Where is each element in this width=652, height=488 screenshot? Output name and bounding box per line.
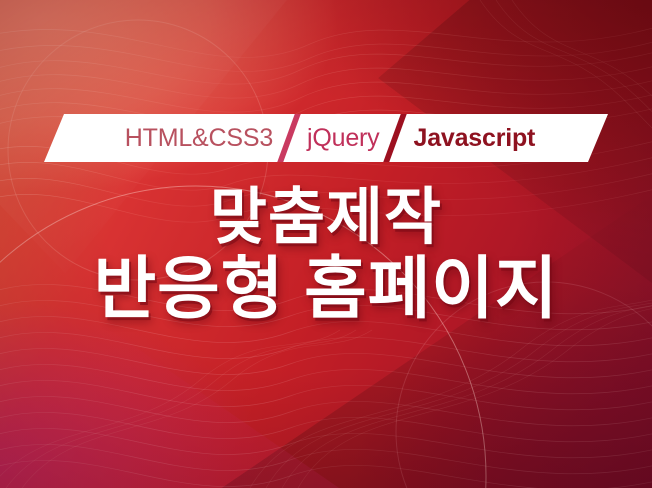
slash-divider-icon-2: [381, 114, 411, 162]
headline-line-1: 맞춤제작: [0, 186, 652, 249]
tech-stack-bar: HTML&CSS3 jQuery Javascript: [44, 114, 608, 162]
headline-line-2: 반응형 홈페이지: [0, 255, 652, 324]
stack-label-jquery: jQuery: [305, 126, 381, 151]
promo-banner: HTML&CSS3 jQuery Javascript 맞춤제작 반응형 홈페이…: [0, 0, 652, 488]
slash-divider-icon-1: [275, 114, 305, 162]
stack-label-html-css3: HTML&CSS3: [123, 126, 275, 151]
headline-block: 맞춤제작 반응형 홈페이지: [0, 186, 652, 325]
stack-label-javascript: Javascript: [411, 126, 537, 151]
